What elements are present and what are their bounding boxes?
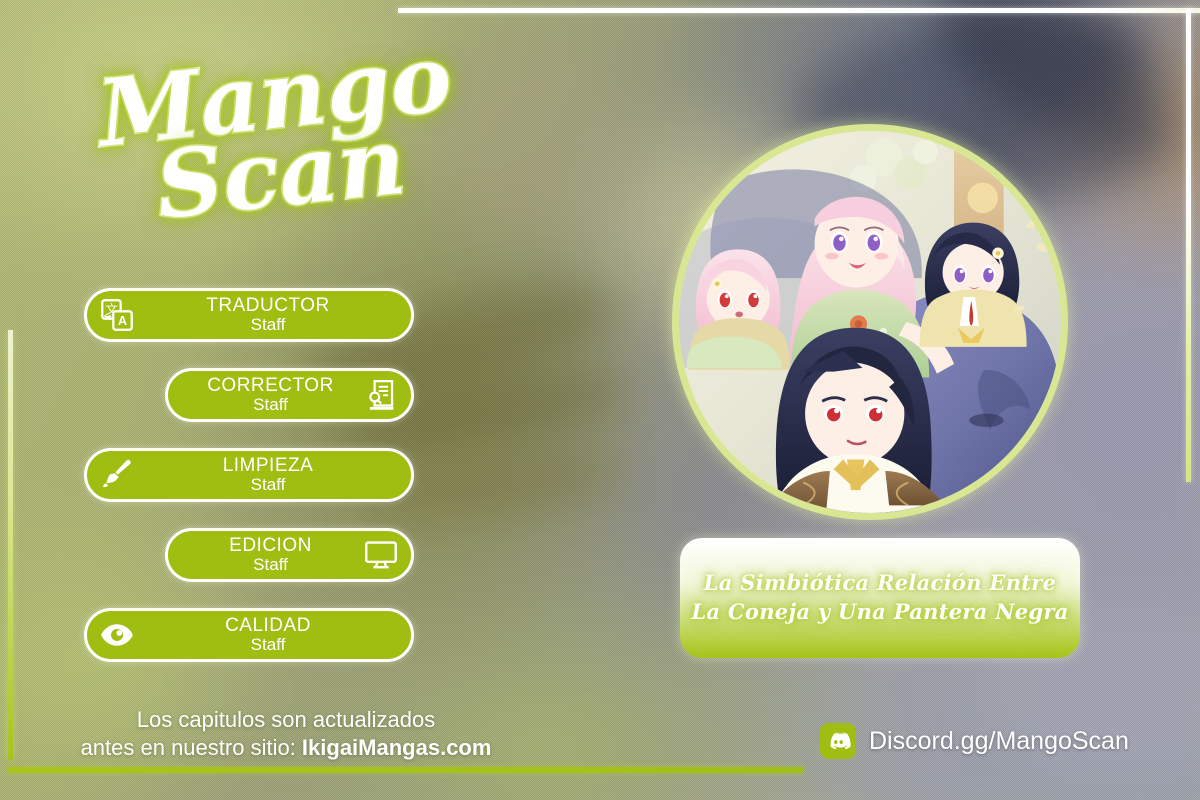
update-notice: Los capitulos son actualizados antes en … [36, 706, 536, 762]
update-notice-line-1: Los capitulos son actualizados [36, 706, 536, 734]
series-cover-artwork [672, 124, 1068, 520]
discord-icon [820, 723, 856, 759]
role-member: Staff [133, 636, 403, 654]
role-pill-calidad[interactable]: CALIDAD Staff [84, 608, 414, 662]
background-streak [430, 40, 630, 240]
role-title: LIMPIEZA [133, 456, 403, 476]
desktop-monitor-icon [353, 527, 409, 583]
role-title: EDICION [176, 536, 365, 556]
cover-illustration [679, 131, 1061, 513]
credits-page: Mango Scan 文 A TRADUCTOR Staff [0, 0, 1200, 800]
frame-line-bottom [8, 767, 803, 773]
paint-brush-icon [89, 447, 145, 503]
role-title: TRADUCTOR [133, 296, 403, 316]
role-member: Staff [176, 396, 365, 414]
series-title-line-2: La Coneja y Una Pantera Negra [691, 598, 1068, 627]
update-notice-line-2: antes en nuestro sitio: IkigaiMangas.com [36, 734, 536, 762]
series-title: La Simbiótica Relación Entre La Coneja y… [691, 569, 1068, 627]
frame-line-right [1186, 8, 1191, 482]
series-title-line-1: La Simbiótica Relación Entre [691, 569, 1068, 598]
discord-invite[interactable]: Discord.gg/MangoScan [820, 723, 1129, 759]
role-member: Staff [133, 476, 403, 494]
role-pill-limpieza[interactable]: LIMPIEZA Staff [84, 448, 414, 502]
proofread-document-icon [353, 367, 409, 423]
role-pill-edicion[interactable]: EDICION Staff [165, 528, 414, 582]
role-pill-corrector[interactable]: CORRECTOR Staff [165, 368, 414, 422]
translate-icon: 文 A [89, 287, 145, 343]
background-streak [120, 40, 320, 160]
frame-line-top [398, 8, 1200, 13]
discord-label[interactable]: Discord.gg/MangoScan [869, 727, 1129, 756]
website-link[interactable]: IkigaiMangas.com [302, 735, 492, 760]
role-member: Staff [133, 316, 403, 334]
frame-line-left [8, 330, 13, 760]
eye-icon [89, 607, 145, 663]
staff-role-list: 文 A TRADUCTOR Staff [84, 288, 414, 688]
role-member: Staff [176, 556, 365, 574]
role-title: CORRECTOR [176, 376, 365, 396]
update-notice-prefix: antes en nuestro sitio: [81, 735, 302, 760]
svg-text:A: A [118, 313, 127, 328]
role-title: CALIDAD [133, 616, 403, 636]
series-title-panel: La Simbiótica Relación Entre La Coneja y… [680, 538, 1080, 658]
role-pill-traductor[interactable]: 文 A TRADUCTOR Staff [84, 288, 414, 342]
